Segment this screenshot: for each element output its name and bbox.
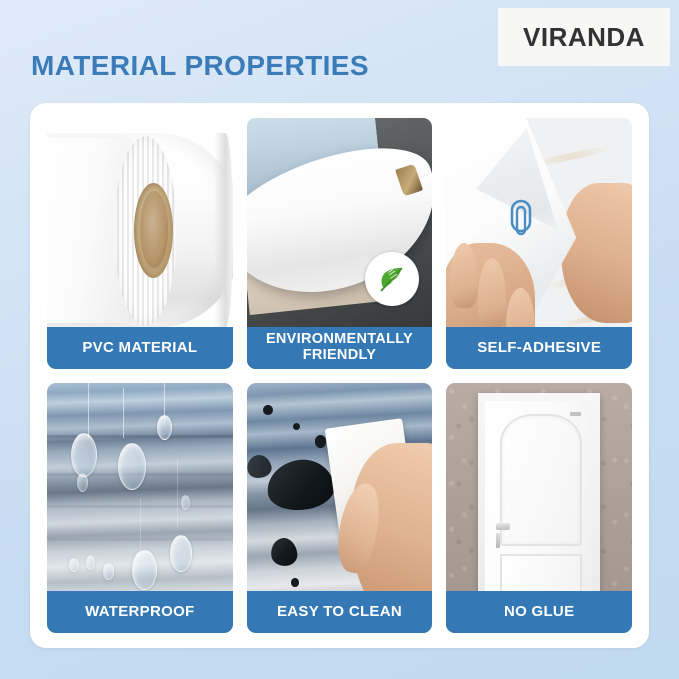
feature-card-pvc-material[interactable]: PVC MATERIAL — [47, 118, 233, 369]
feature-label-self-adhesive: SELF-ADHESIVE — [446, 327, 632, 369]
feature-label-no-glue: NO GLUE — [446, 591, 632, 633]
feature-label-environmentally-friendly: ENVIRONMENTALLY FRIENDLY — [247, 327, 433, 369]
feature-label-easy-to-clean: EASY TO CLEAN — [247, 591, 433, 633]
feature-card-environmentally-friendly[interactable]: ENVIRONMENTALLY FRIENDLY — [247, 118, 433, 369]
feature-card-waterproof[interactable]: WATERPROOF — [47, 383, 233, 634]
feature-card-self-adhesive[interactable]: SELF-ADHESIVE — [446, 118, 632, 369]
page-title: MATERIAL PROPERTIES — [31, 50, 369, 82]
feature-label-waterproof: WATERPROOF — [47, 591, 233, 633]
brand-logo: VIRANDA — [498, 8, 670, 66]
feature-label-pvc-material: PVC MATERIAL — [47, 327, 233, 369]
brand-name: VIRANDA — [523, 22, 645, 53]
leaf-icon — [375, 262, 409, 296]
leaf-badge — [365, 252, 419, 306]
feature-card-easy-to-clean[interactable]: EASY TO CLEAN — [247, 383, 433, 634]
infographic-page: VIRANDA MATERIAL PROPERTIES PVC MATERIAL — [0, 0, 679, 679]
features-panel: PVC MATERIAL — [30, 103, 649, 648]
paperclip-icon — [508, 198, 534, 242]
feature-card-no-glue[interactable]: NO GLUE — [446, 383, 632, 634]
features-grid: PVC MATERIAL — [47, 118, 632, 633]
